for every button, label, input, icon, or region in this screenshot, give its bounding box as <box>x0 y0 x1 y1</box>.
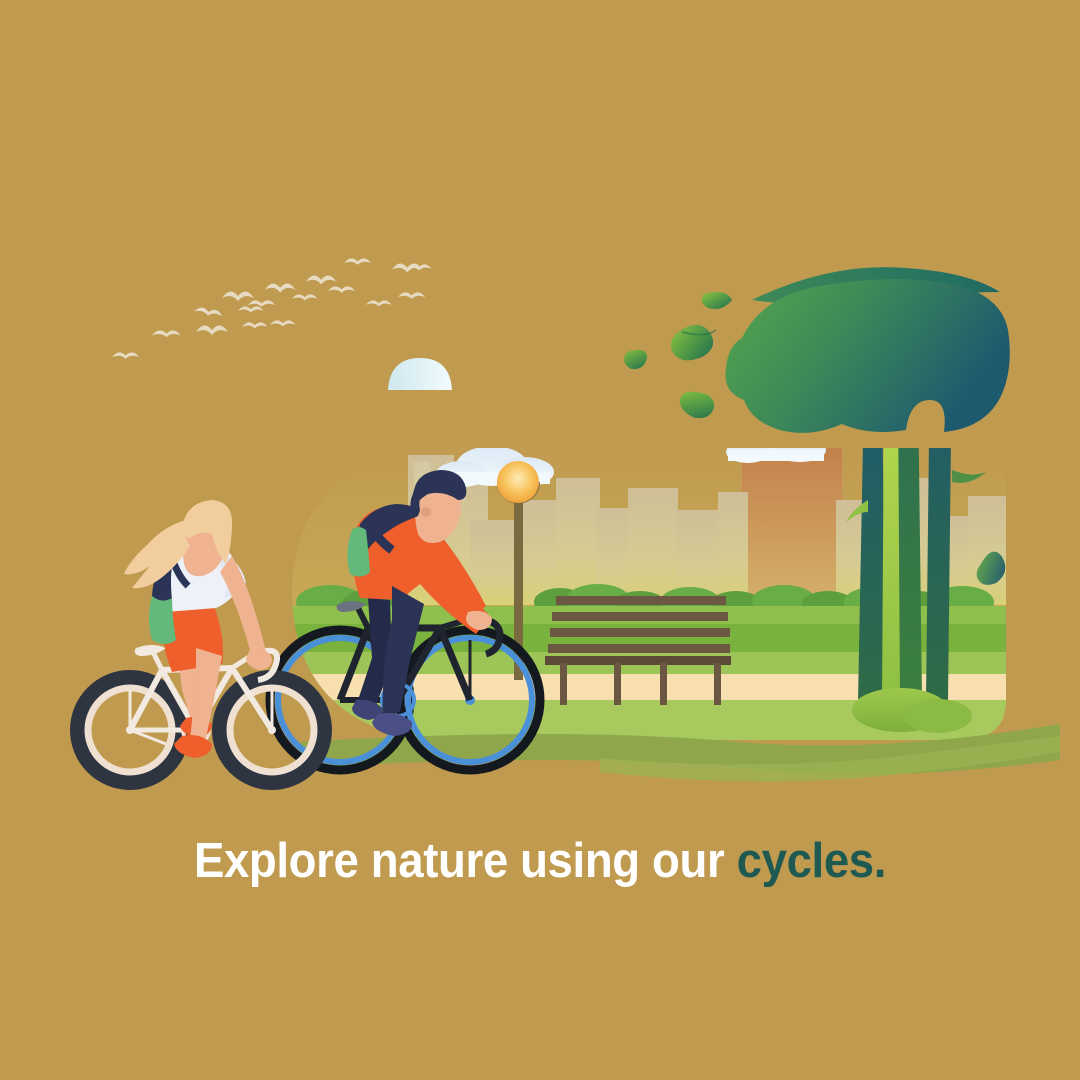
headline-text-primary: Explore nature using our <box>194 834 737 888</box>
building-brown <box>742 448 842 608</box>
woman-backpack-bottom <box>149 596 176 644</box>
scene-illustration <box>0 0 1080 1080</box>
tree-base-mound-2 <box>904 699 972 733</box>
page-headline: Explore nature using our cycles. <box>38 836 1042 887</box>
headline-text-accent: cycles. <box>737 834 886 888</box>
poster-canvas: Explore nature using our cycles. <box>0 0 1080 1080</box>
man-ear <box>421 507 431 517</box>
lamp-globe <box>497 461 539 503</box>
